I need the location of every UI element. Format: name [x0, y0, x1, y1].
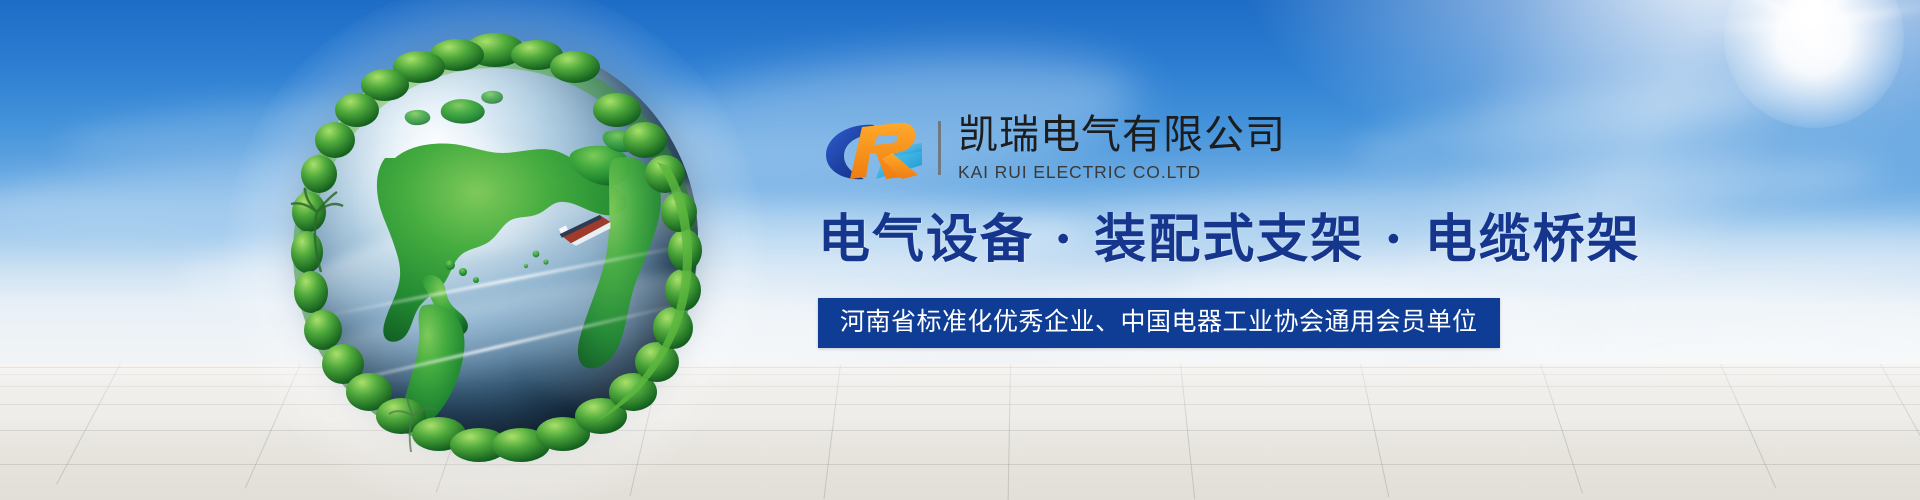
logo-divider [938, 121, 941, 175]
banner-slogan: 电气设备 · 装配式支架 · 电缆桥架 [818, 210, 1518, 270]
company-name-en: KAI RUI ELECTRIC CO.LTD [958, 160, 1286, 184]
credentials-badge: 河南省标准化优秀企业、中国电器工业协会通用会员单位 [818, 298, 1500, 348]
green-earth-globe-icon [265, 22, 725, 482]
hero-banner: 凯瑞电气有限公司 KAI RUI ELECTRIC CO.LTD 电气设备 · … [0, 0, 1920, 500]
tree-rim-icon [265, 22, 725, 482]
brand-names: 凯瑞电气有限公司 KAI RUI ELECTRIC CO.LTD [958, 112, 1286, 184]
company-name-cn: 凯瑞电气有限公司 [958, 112, 1286, 158]
cr-monogram-icon [818, 115, 932, 181]
brand-content: 凯瑞电气有限公司 KAI RUI ELECTRIC CO.LTD 电气设备 · … [818, 112, 1518, 348]
logo-lockup: 凯瑞电气有限公司 KAI RUI ELECTRIC CO.LTD [818, 112, 1518, 184]
